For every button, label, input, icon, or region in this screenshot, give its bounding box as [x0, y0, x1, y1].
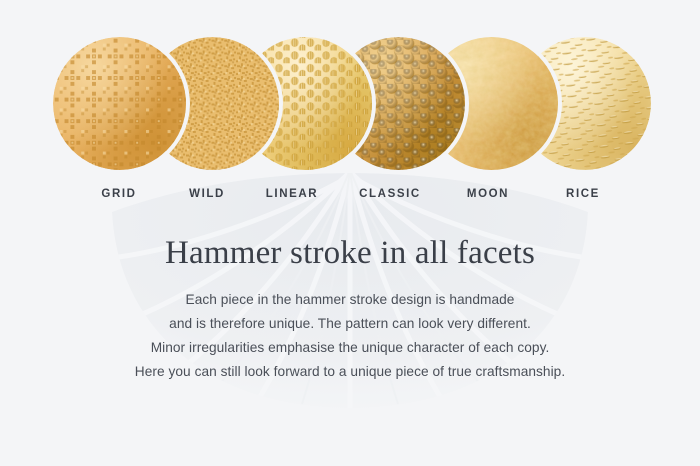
paragraph-line-2: and is therefore unique. The pattern can…	[0, 312, 700, 336]
paragraph-line-4: Here you can still look forward to a uni…	[0, 360, 700, 384]
page-title: Hammer stroke in all facets	[0, 232, 700, 274]
paragraph-line-1: Each piece in the hammer stroke design i…	[0, 288, 700, 312]
copy-block: Hammer stroke in all facets Each piece i…	[0, 232, 700, 384]
paragraph-line-3: Minor irregularities emphasise the uniqu…	[0, 336, 700, 360]
swatch-labels: GRID WILD LINEAR CLASSIC MOON RICE	[0, 186, 700, 208]
swatch-label-rice: RICE	[513, 186, 653, 202]
hammer-stroke-banner: GRID WILD LINEAR CLASSIC MOON RICE Hamme…	[0, 0, 700, 466]
swatch-grid[interactable]	[53, 37, 186, 170]
swatch-strip	[0, 0, 700, 180]
body-paragraph: Each piece in the hammer stroke design i…	[0, 288, 700, 384]
swatch-grid-surface	[53, 37, 186, 170]
